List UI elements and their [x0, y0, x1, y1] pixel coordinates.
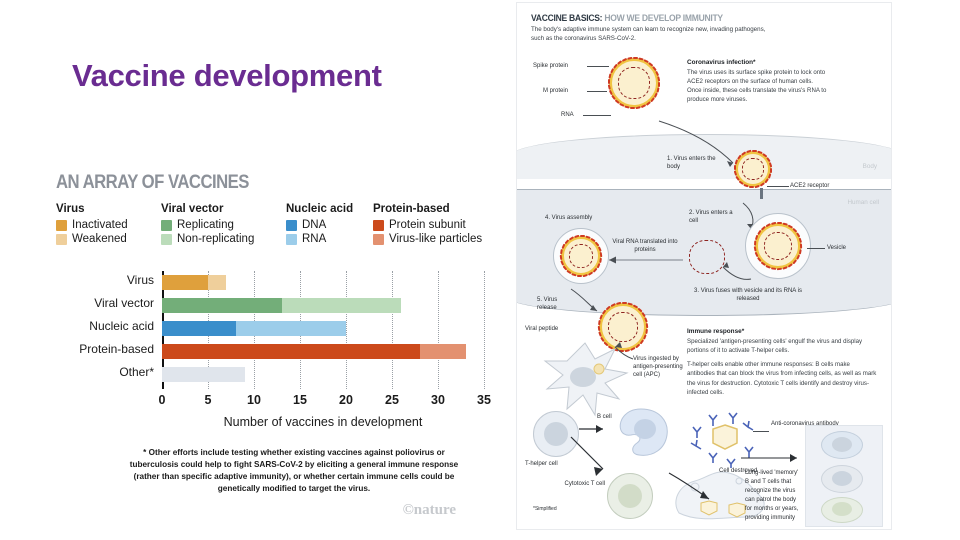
infographic-title-sub: HOW WE DEVELOP IMMUNITY — [604, 13, 722, 23]
label-memory-cells: Long-lived 'memory' B and T cells that r… — [745, 469, 803, 523]
legend-item: Protein subunit — [373, 219, 482, 231]
spike-protein-icon — [561, 244, 565, 249]
leader-antibody — [753, 431, 769, 432]
x-tick-label: 30 — [431, 393, 445, 407]
gridline — [484, 271, 486, 389]
legend-head: Nucleic acid — [286, 203, 353, 215]
bar-segment — [162, 367, 245, 382]
spike-protein-icon — [777, 222, 782, 224]
bar-segment — [162, 344, 420, 359]
label-viral-peptide: Viral peptide — [525, 325, 559, 333]
spike-protein-icon — [608, 73, 611, 78]
spike-protein-icon — [749, 186, 754, 188]
bar-segment — [282, 298, 402, 313]
spike-protein-icon — [615, 99, 620, 104]
leader-spike — [587, 66, 609, 67]
x-tick-label: 15 — [293, 393, 307, 407]
memory-nucleus-2 — [832, 471, 852, 486]
legend-label: DNA — [302, 219, 326, 231]
chart-title: AN ARRAY OF VACCINES — [56, 172, 440, 194]
spike-protein-icon — [619, 103, 624, 107]
x-tick-label: 20 — [339, 393, 353, 407]
infographic-header: VACCINE BASICS: HOW WE DEVELOP IMMUNITY … — [531, 13, 879, 44]
spike-protein-icon — [635, 106, 640, 109]
spike-protein-icon — [641, 104, 646, 108]
leader-m — [587, 91, 607, 92]
spike-protein-icon — [754, 241, 756, 246]
spike-protein-icon — [627, 57, 632, 60]
rna-strand — [618, 67, 650, 99]
spike-protein-icon — [598, 320, 601, 325]
arrow-to-cytotoxic — [569, 435, 617, 481]
virus-in-vesicle — [755, 223, 801, 269]
vaccine-chart-figure: AN ARRAY OF VACCINES Virus Inactivated W… — [52, 172, 492, 517]
spike-protein-icon — [643, 334, 647, 339]
label-simplified: *Simplified — [533, 506, 557, 513]
bar-category-label: Viral vector — [94, 296, 154, 310]
legend-item: Virus-like particles — [373, 233, 482, 245]
spike-protein-icon — [734, 165, 736, 170]
label-human-cell: Human cell — [848, 199, 880, 206]
label-cytotoxic-t-cell: Cytotoxic T cell — [561, 480, 605, 488]
label-ace2-receptor: ACE2 receptor — [790, 182, 829, 190]
spike-protein-icon — [658, 82, 660, 87]
virus-particle-entering-body — [735, 151, 771, 187]
spike-protein-icon — [598, 326, 601, 331]
bar-category-label: Other* — [119, 365, 154, 379]
immune-text-block: Immune response* Specialized 'antigen-pr… — [687, 328, 879, 397]
x-axis-title: Number of vaccines in development — [162, 415, 484, 429]
legend-head: Viral vector — [161, 203, 254, 215]
arrow-rna-release — [717, 261, 753, 285]
legend-item: Replicating — [161, 219, 254, 231]
bar-chart-plot: VirusViral vectorNucleic acidProtein-bas… — [52, 271, 492, 401]
spike-protein-icon — [757, 230, 761, 235]
label-m-protein: M protein — [543, 87, 568, 95]
spike-protein-icon — [764, 178, 769, 183]
spike-protein-icon — [577, 275, 582, 277]
legend-item: Inactivated — [56, 219, 128, 231]
legend-swatch-non-replicating — [161, 234, 172, 245]
legend-group-protein-based: Protein-based Protein subunit Virus-like… — [373, 203, 482, 247]
legend-item: Non-replicating — [161, 233, 254, 245]
leader-vesicle — [807, 248, 825, 249]
spike-protein-icon — [560, 249, 563, 254]
spike-protein-icon — [616, 302, 621, 305]
legend-swatch-inactivated — [56, 220, 67, 231]
virus-particle-main — [609, 58, 659, 108]
arrow-to-b-cell — [579, 423, 613, 435]
chart-legend: Virus Inactivated Weakened Viral vector … — [56, 203, 492, 265]
ace2-receptor-stem — [760, 188, 763, 199]
step-4-label: 4. Virus assembly — [545, 214, 592, 222]
infographic-subtitle: The body's adaptive immune system can le… — [531, 26, 766, 44]
spike-protein-icon — [657, 87, 660, 92]
spike-protein-icon — [760, 182, 765, 187]
legend-label: Replicating — [177, 219, 234, 231]
bar-segment — [162, 298, 282, 313]
spike-protein-icon — [599, 314, 603, 319]
arrow-to-memory — [741, 453, 807, 463]
chart-footnote: * Other efforts include testing whether … — [52, 447, 492, 495]
spike-protein-icon — [610, 68, 614, 73]
infection-heading: Coronavirus infection* — [687, 59, 827, 66]
bar-category-label: Protein-based — [79, 342, 154, 356]
step-2-label: 2. Virus enters a cell — [689, 209, 741, 225]
label-t-helper-cell: T-helper cell — [525, 460, 558, 468]
spike-protein-icon — [569, 236, 574, 240]
step-5-label: 5. Virus release — [537, 296, 573, 312]
label-body: Body — [863, 163, 877, 170]
spike-protein-icon — [611, 95, 616, 100]
legend-group-virus: Virus Inactivated Weakened — [56, 203, 128, 247]
vaccine-basics-infographic: VACCINE BASICS: HOW WE DEVELOP IMMUNITY … — [516, 2, 892, 530]
bar-segment — [208, 275, 226, 290]
legend-label: Virus-like particles — [389, 233, 482, 245]
virus-assembling — [561, 236, 601, 276]
legend-item: DNA — [286, 219, 353, 231]
rna-strand — [764, 232, 793, 261]
legend-swatch-protein-subunit — [373, 220, 384, 231]
spike-protein-icon — [771, 267, 776, 270]
spike-protein-icon — [800, 243, 802, 248]
spike-protein-icon — [644, 317, 648, 322]
bar-segment — [236, 321, 346, 336]
legend-label: Inactivated — [72, 219, 128, 231]
bar-category-label: Nucleic acid — [89, 319, 154, 333]
spike-protein-icon — [630, 107, 635, 109]
spike-protein-icon — [580, 235, 585, 237]
legend-swatch-replicating — [161, 220, 172, 231]
spike-protein-icon — [646, 323, 649, 328]
arrow-step5 — [569, 287, 603, 317]
spike-protein-icon — [755, 235, 758, 240]
label-b-cell: B cell — [597, 413, 612, 421]
immune-heading: Immune response* — [687, 328, 879, 335]
spike-protein-icon — [752, 150, 757, 152]
spike-protein-icon — [633, 57, 638, 59]
bar-segment — [420, 344, 466, 359]
spike-protein-icon — [746, 150, 751, 153]
arrow-virus-ingested — [609, 343, 637, 365]
nature-credit: ©nature — [52, 502, 492, 519]
b-cell-shape — [615, 407, 671, 459]
legend-label: Weakened — [72, 233, 127, 245]
memory-nucleus-1 — [832, 437, 852, 452]
spike-protein-icon — [735, 176, 740, 181]
spike-protein-icon — [743, 184, 748, 187]
infection-text-block: Coronavirus infection* The virus uses it… — [687, 59, 827, 105]
legend-swatch-vlp — [373, 234, 384, 245]
legend-group-nucleic-acid: Nucleic acid DNA RNA — [286, 203, 353, 247]
bar-row: Nucleic acid — [162, 321, 484, 336]
spike-protein-icon — [602, 310, 606, 315]
legend-swatch-weakened — [56, 234, 67, 245]
spike-protein-icon — [608, 79, 610, 84]
bar-row: Protein-based — [162, 344, 484, 359]
spike-protein-icon — [645, 329, 648, 334]
spike-protein-icon — [646, 101, 651, 106]
memory-nucleus-3 — [832, 502, 852, 516]
spike-protein-icon — [609, 90, 613, 95]
infection-body: The virus uses its surface spike protein… — [687, 68, 827, 105]
leader-ace2 — [767, 186, 789, 187]
spike-protein-icon — [734, 170, 737, 175]
step-3-label: 3. Virus fuses with vesicle and its RNA … — [693, 287, 803, 303]
spike-protein-icon — [770, 168, 772, 173]
legend-item: RNA — [286, 233, 353, 245]
bar-row: Virus — [162, 275, 484, 290]
legend-head: Protein-based — [373, 203, 482, 215]
page-title: Vaccine development — [72, 58, 382, 94]
legend-label: Non-replicating — [177, 233, 254, 245]
x-tick-label: 5 — [205, 393, 212, 407]
spike-protein-icon — [766, 223, 771, 227]
label-rna: RNA — [561, 111, 574, 119]
spike-protein-icon — [608, 84, 611, 89]
spike-protein-icon — [754, 246, 757, 251]
bar-row: Other* — [162, 367, 484, 382]
arrow-translation — [601, 255, 685, 265]
t-helper-nucleus — [544, 422, 568, 446]
rna-strand — [569, 244, 593, 268]
leader-rna — [583, 115, 611, 116]
label-vesicle: Vesicle — [827, 244, 846, 252]
immune-paragraph-1: Specialized 'antigen-presenting cells' e… — [687, 337, 879, 355]
spike-protein-icon — [739, 180, 744, 185]
spike-protein-icon — [624, 106, 629, 109]
label-spike-protein: Spike protein — [533, 62, 568, 70]
label-apc: Virus ingested by antigen-presenting cel… — [633, 355, 683, 379]
immune-paragraph-2: T-helper cells enable other immune respo… — [687, 360, 879, 397]
step-1-label: 1. Virus enters the body — [667, 155, 719, 171]
spike-protein-icon — [650, 97, 655, 102]
legend-group-viral-vector: Viral vector Replicating Non-replicating — [161, 203, 254, 247]
infographic-title: VACCINE BASICS: HOW WE DEVELOP IMMUNITY — [531, 13, 851, 23]
spike-protein-icon — [735, 159, 738, 164]
spike-protein-icon — [657, 76, 660, 81]
spike-protein-icon — [560, 255, 563, 260]
x-tick-label: 25 — [385, 393, 399, 407]
legend-label: Protein subunit — [389, 219, 466, 231]
legend-label: RNA — [302, 233, 326, 245]
arrow-cell-destroyed — [667, 469, 719, 505]
legend-swatch-dna — [286, 220, 297, 231]
bar-segment — [162, 275, 208, 290]
bar-segment — [162, 321, 236, 336]
spike-protein-icon — [574, 235, 579, 238]
spike-protein-icon — [622, 302, 627, 304]
spike-protein-icon — [771, 222, 776, 225]
bar-row: Viral vector — [162, 298, 484, 313]
bar-category-label: Virus — [127, 273, 154, 287]
cytotoxic-t-nucleus — [618, 484, 642, 508]
spike-protein-icon — [610, 303, 615, 307]
legend-swatch-rna — [286, 234, 297, 245]
legend-item: Weakened — [56, 233, 128, 245]
legend-head: Virus — [56, 203, 128, 215]
infographic-title-main: VACCINE BASICS: — [531, 13, 602, 23]
x-tick-label: 0 — [159, 393, 166, 407]
label-translation: Viral RNA translated into proteins — [610, 238, 680, 254]
x-tick-label: 35 — [477, 393, 491, 407]
bars-container: VirusViral vectorNucleic acidProtein-bas… — [162, 271, 484, 401]
rna-strand — [742, 158, 764, 180]
x-tick-label: 10 — [247, 393, 261, 407]
